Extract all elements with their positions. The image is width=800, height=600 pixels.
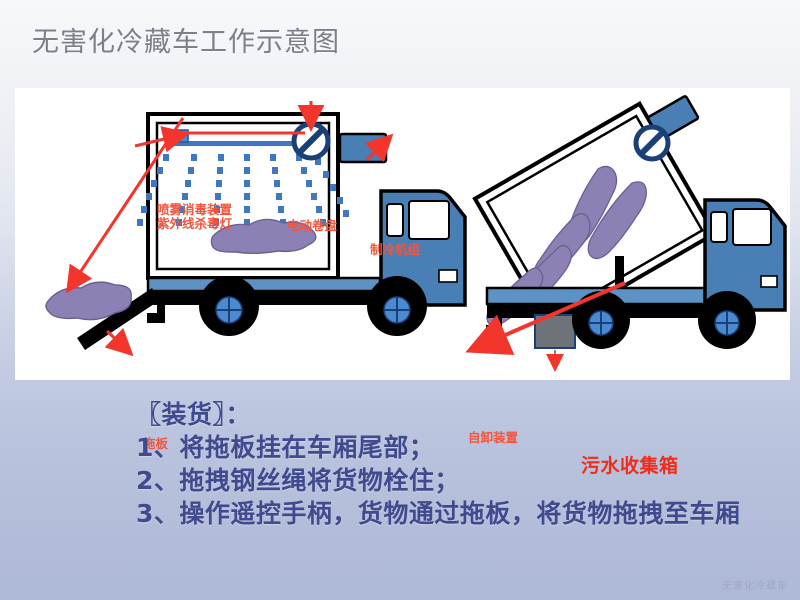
label-spray-disinfection: 喷雾消毒装置 紫外线杀毒灯 <box>157 203 232 231</box>
label-spray-line2: 紫外线杀毒灯 <box>157 217 232 231</box>
slide-canvas: 无害化冷藏车工作示意图 <box>0 0 800 600</box>
label-electric-reel: 电动卷盘 <box>287 219 337 233</box>
instructions-block: 〖装货〗： 1、将拖板挂在车厢尾部； 2、拖拽钢丝绳将货物栓住； 3、操作遥控手… <box>136 398 800 530</box>
diagram-panel: 喷雾消毒装置 紫外线杀毒灯 电动卷盘 制冷机组 拖板 自卸装置 污水收集箱 <box>15 88 790 380</box>
page-title: 无害化冷藏车工作示意图 <box>32 26 340 60</box>
electric-reel-icon-right <box>636 127 668 159</box>
truck-diagram-illustration <box>15 88 790 380</box>
right-truck-group <box>475 96 785 349</box>
label-refrigeration-unit: 制冷机组 <box>370 243 420 257</box>
corner-watermark: 无害化冷藏车 <box>722 577 788 592</box>
instructions-heading: 〖装货〗： <box>136 398 800 431</box>
electric-reel-icon <box>294 124 328 158</box>
instruction-step-2: 2、拖拽钢丝绳将货物栓住； <box>136 464 800 497</box>
label-spray-line1: 喷雾消毒装置 <box>157 203 232 217</box>
left-truck-group <box>46 114 465 350</box>
instruction-step-1: 1、将拖板挂在车厢尾部； <box>136 431 800 464</box>
instruction-step-3: 3、操作遥控手柄，货物通过拖板，将货物拖拽至车厢 <box>136 497 800 530</box>
